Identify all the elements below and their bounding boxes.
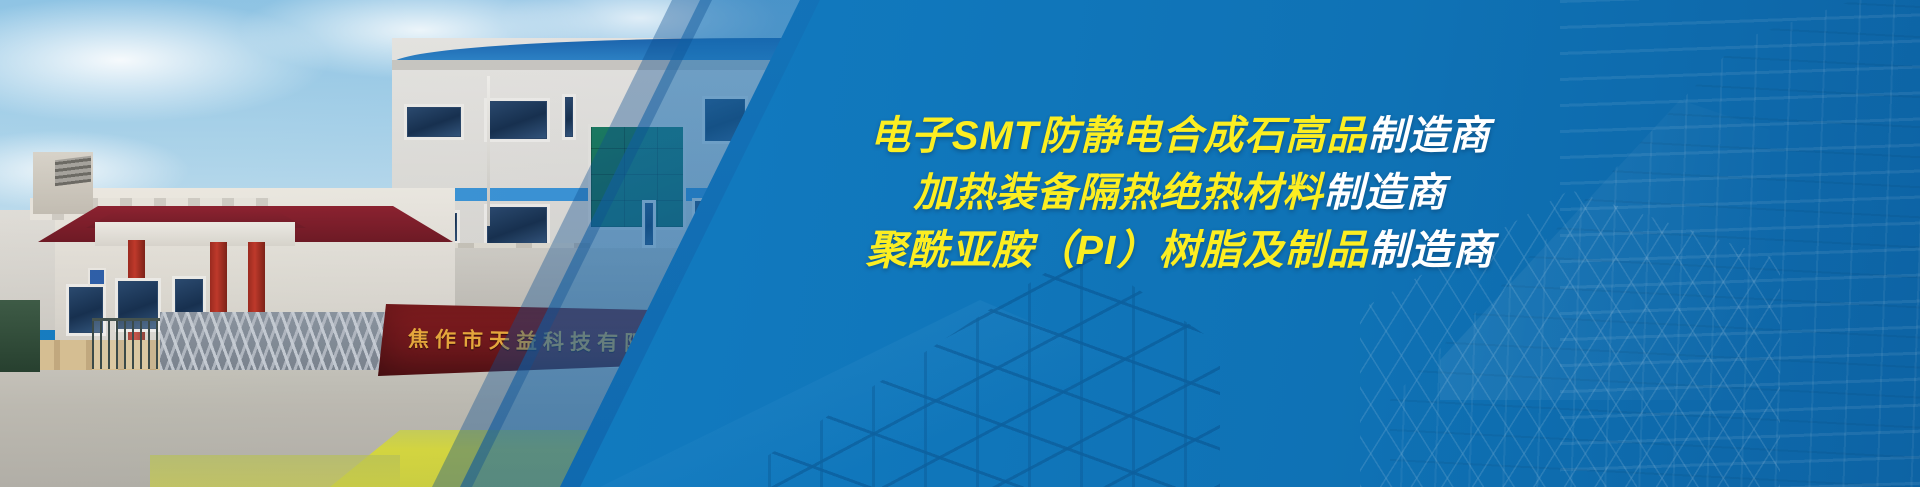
headline-block: 电子SMT防静电合成石高品制造商 加热装备隔热绝热材料制造商 聚酰亚胺（PI）树… — [700, 108, 1660, 279]
headline-line-1: 电子SMT防静电合成石高品制造商 — [700, 108, 1660, 165]
headline-2-highlight: 加热装备隔热绝热材料 — [914, 171, 1324, 215]
headline-3-highlight: 聚酰亚胺（PI）树脂及制品 — [866, 227, 1369, 273]
headline-2-plain: 制造商 — [1324, 171, 1447, 215]
headline-3-plain: 制造商 — [1368, 227, 1494, 273]
headline-1-plain: 制造商 — [1367, 114, 1490, 158]
headline-line-2: 加热装备隔热绝热材料制造商 — [700, 165, 1660, 222]
headline-line-3: 聚酰亚胺（PI）树脂及制品制造商 — [700, 222, 1660, 279]
company-hero-banner: 焦作市天益科技有限公司 电子SMT防静电合成石高品制造商 加热装备隔热绝热材料制… — [0, 0, 1920, 487]
headline-1-highlight: 电子SMT防静电合成石高品 — [870, 114, 1367, 158]
